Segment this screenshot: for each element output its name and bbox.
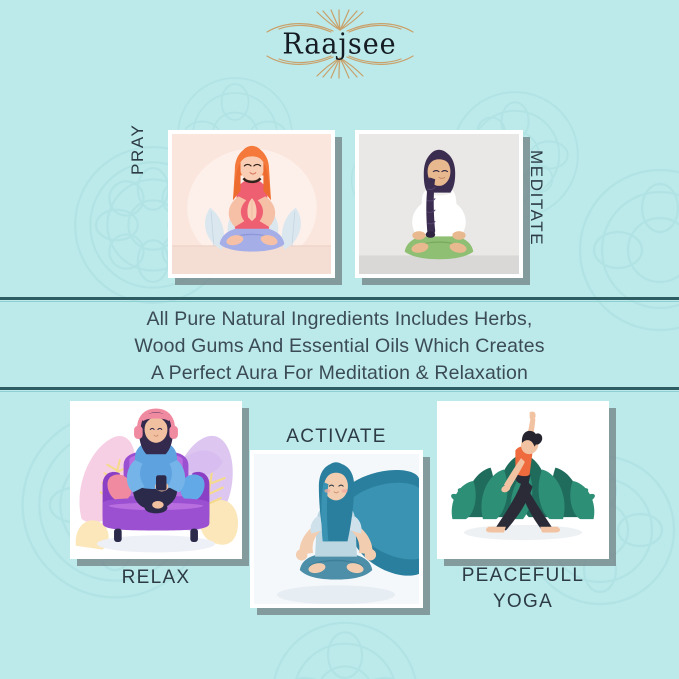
label-yoga-line-1: PEACEFULL [437, 563, 609, 589]
divider-bottom-accent [0, 391, 679, 392]
description-line-3: A Perfect Aura For Meditation & Relaxati… [0, 360, 679, 387]
card-pray [168, 130, 335, 278]
label-peacefull-yoga: PEACEFULL YOGA [437, 563, 609, 614]
brand-name: Raajsee [282, 30, 396, 59]
mandala-motif-icon [250, 600, 440, 679]
ingredients-description: All Pure Natural Ingredients Includes He… [0, 306, 679, 387]
product-infographic: Raajsee [0, 0, 679, 679]
divider-top-accent [0, 301, 679, 302]
card-activate [250, 450, 423, 608]
illustration-activate [254, 454, 419, 604]
card-meditate [355, 130, 523, 278]
card-relax [70, 401, 242, 559]
label-pray: PRAY [128, 124, 148, 175]
divider-bottom [0, 387, 679, 390]
illustration-meditate [359, 134, 519, 274]
divider-top [0, 297, 679, 300]
label-relax: RELAX [70, 565, 242, 591]
label-yoga-line-2: YOGA [437, 589, 609, 615]
description-line-2: Wood Gums And Essential Oils Which Creat… [0, 333, 679, 360]
label-activate: ACTIVATE [250, 424, 423, 450]
illustration-peacefull-yoga [441, 405, 605, 555]
label-meditate: MEDITATE [526, 150, 546, 246]
card-peacefull-yoga [437, 401, 609, 559]
description-line-1: All Pure Natural Ingredients Includes He… [0, 306, 679, 333]
illustration-relax [74, 405, 238, 555]
brand-logo: Raajsee [0, 8, 679, 80]
illustration-pray [172, 134, 331, 274]
